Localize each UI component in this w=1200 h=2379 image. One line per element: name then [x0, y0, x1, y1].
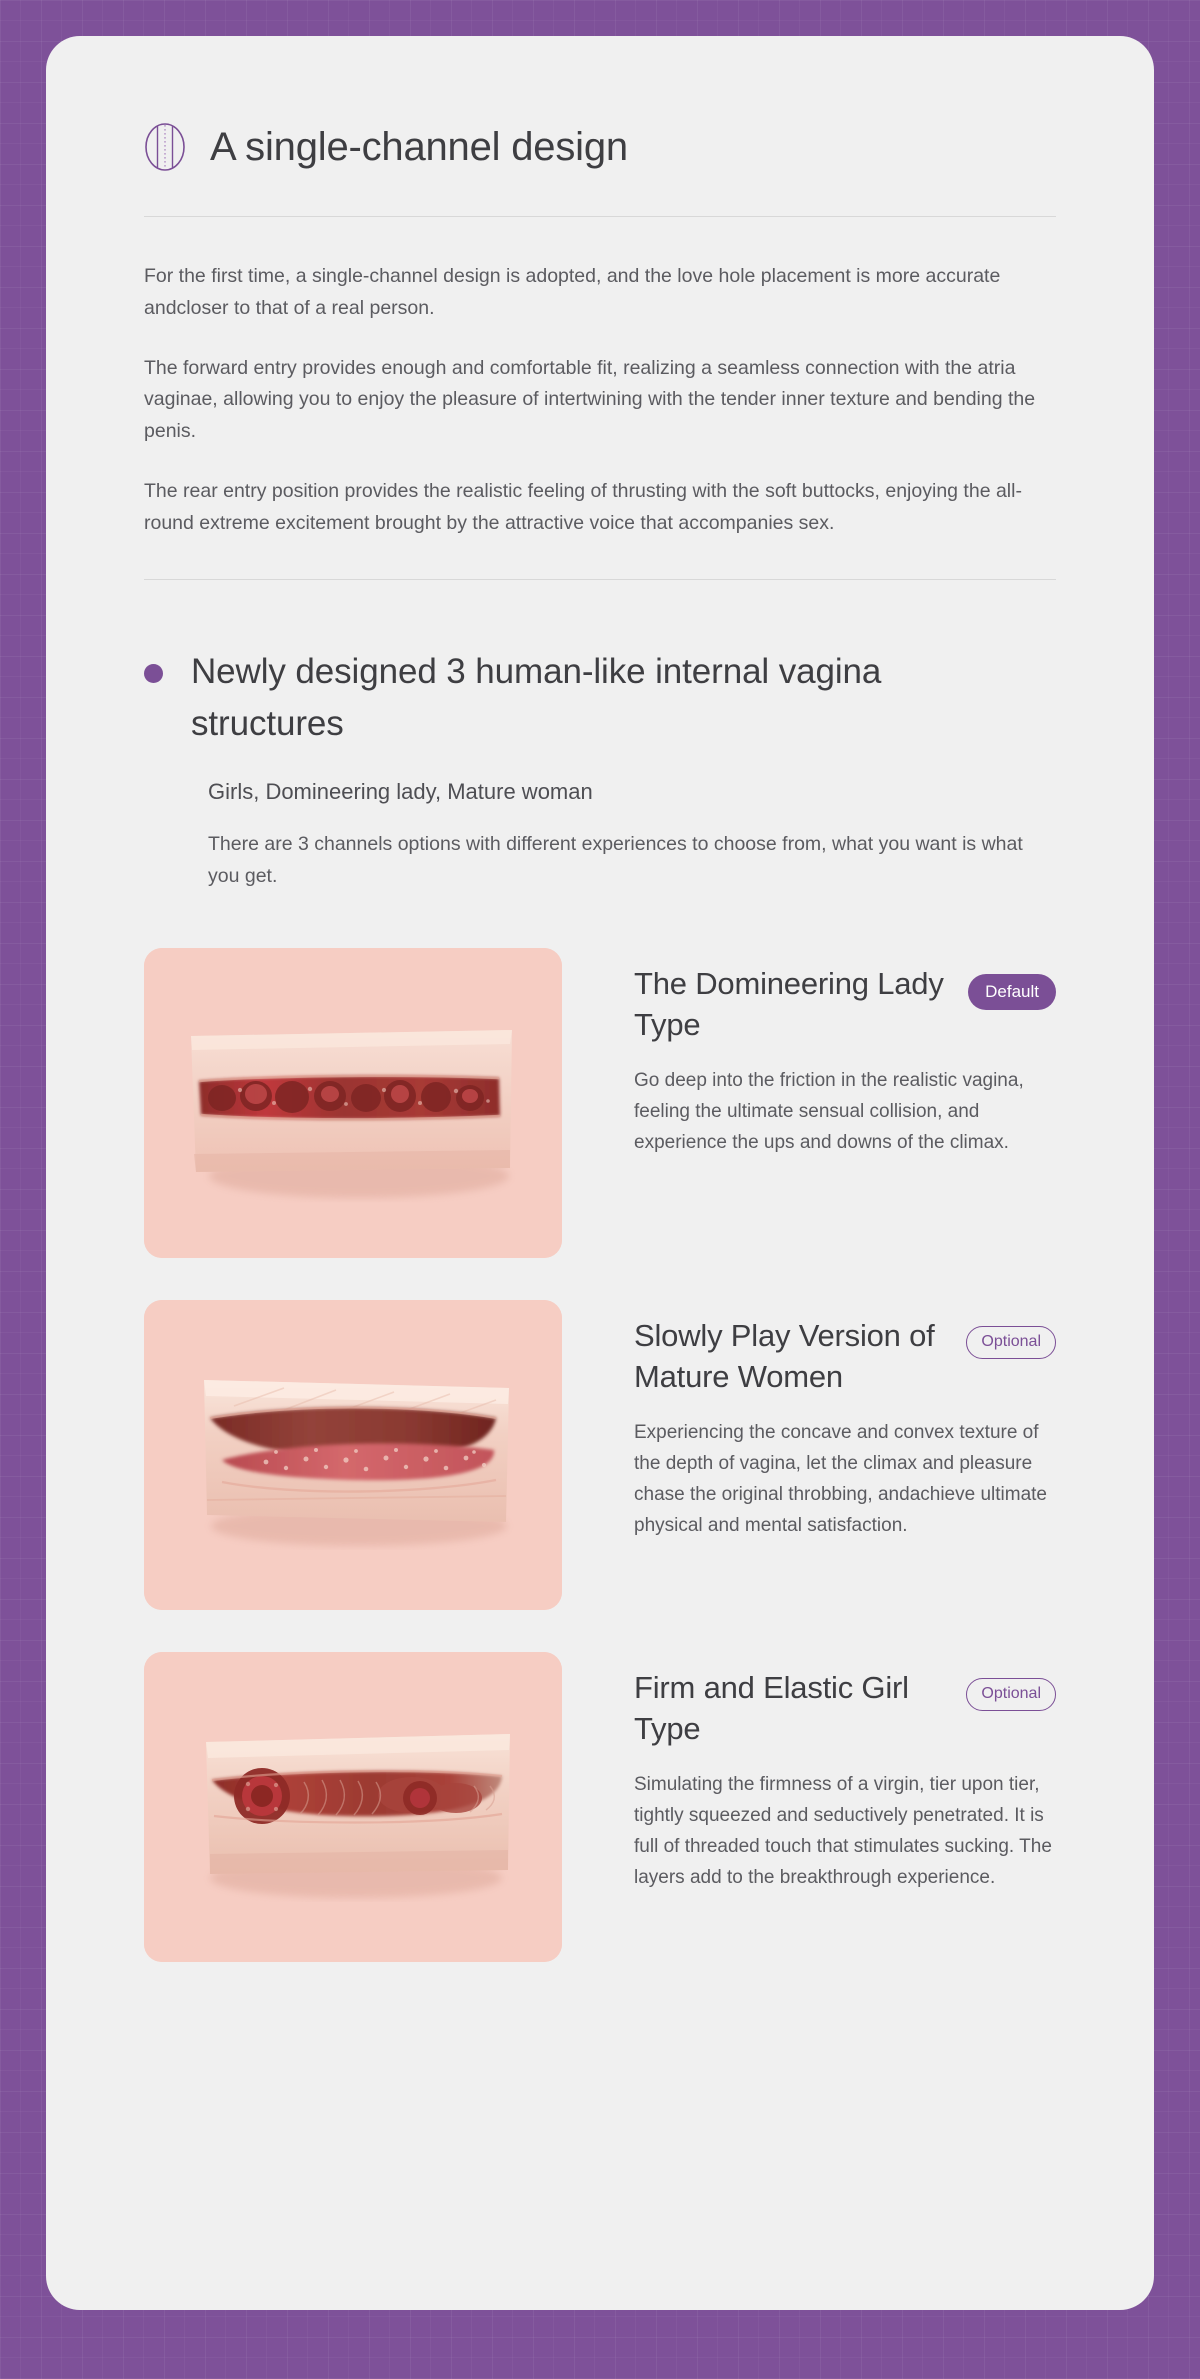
section-lead: Girls, Domineering lady, Mature woman — [208, 777, 1056, 808]
mature-women-channel-photo — [144, 1300, 562, 1610]
bullet-dot-icon — [144, 664, 163, 683]
card-description: Go deep into the friction in the realist… — [634, 1066, 1056, 1159]
section-title: Newly designed 3 human-like internal vag… — [191, 646, 1021, 748]
structures-section-heading: Newly designed 3 human-like internal vag… — [144, 580, 1056, 748]
card-title: Slowly Play Version of Mature Women — [634, 1316, 952, 1398]
card-title: Firm and Elastic Girl Type — [634, 1668, 952, 1750]
intro-section: For the first time, a single-channel des… — [144, 217, 1056, 539]
girl-type-channel-photo — [144, 1652, 562, 1962]
domineering-lady-channel-photo — [144, 948, 562, 1258]
status-badge: Optional — [966, 1326, 1056, 1359]
card-description: Simulating the firmness of a virgin, tie… — [634, 1770, 1056, 1894]
structure-card[interactable]: The Domineering Lady Type Default Go dee… — [144, 948, 1056, 1258]
section-note: There are 3 channels options with differ… — [208, 829, 1056, 891]
single-channel-icon — [144, 122, 186, 172]
intro-paragraph-3: The rear entry position provides the rea… — [144, 476, 1056, 540]
intro-paragraph-1: For the first time, a single-channel des… — [144, 261, 1056, 325]
content-panel: A single-channel design For the first ti… — [46, 36, 1154, 2310]
structure-card[interactable]: Slowly Play Version of Mature Women Opti… — [144, 1300, 1056, 1610]
card-title: The Domineering Lady Type — [634, 964, 954, 1046]
page-title: A single-channel design — [210, 125, 628, 169]
page-header: A single-channel design — [144, 36, 1056, 172]
card-description: Experiencing the concave and convex text… — [634, 1418, 1056, 1542]
page-background: { "header": { "icon": "single-channel-ic… — [0, 0, 1200, 2379]
status-badge: Optional — [966, 1678, 1056, 1711]
structures-section-subtext: Girls, Domineering lady, Mature woman Th… — [208, 749, 1056, 892]
intro-paragraph-2: The forward entry provides enough and co… — [144, 353, 1056, 448]
status-badge: Default — [968, 974, 1056, 1010]
structure-card-list: The Domineering Lady Type Default Go dee… — [144, 892, 1056, 2072]
structure-card[interactable]: Firm and Elastic Girl Type Optional Simu… — [144, 1652, 1056, 1962]
